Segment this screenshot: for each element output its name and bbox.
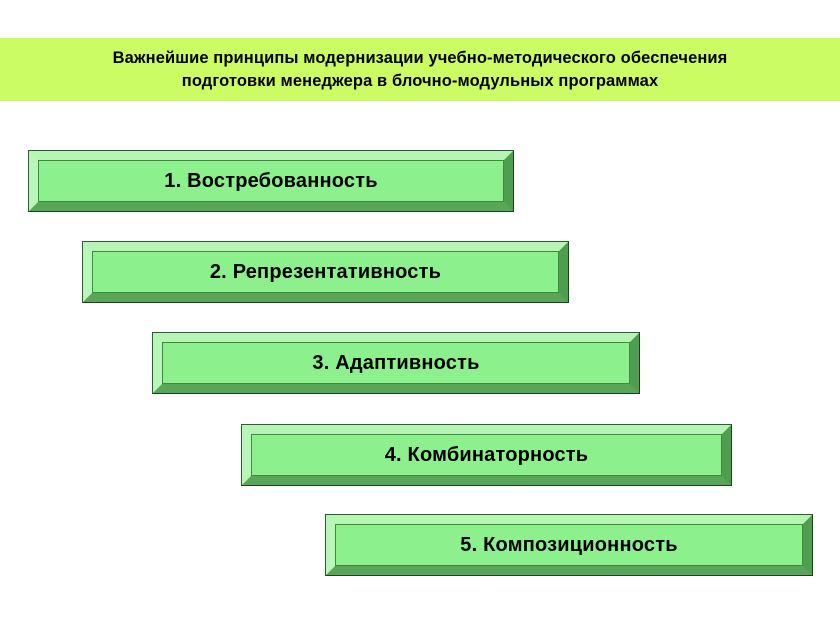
step-box-3-inner: 3. Адаптивность [162, 342, 630, 384]
step-box-5-inner: 5. Композиционность [335, 524, 803, 566]
step-box-4-bevel: 4. Комбинаторность [242, 425, 731, 485]
step-box-3-bevel: 3. Адаптивность [153, 333, 639, 393]
step-box-5[interactable]: 5. Композиционность [325, 514, 813, 576]
step-box-3[interactable]: 3. Адаптивность [152, 332, 640, 394]
step-label-1: 1. Востребованность [164, 171, 377, 191]
step-box-4-inner: 4. Комбинаторность [251, 434, 722, 476]
step-label-4: 4. Комбинаторность [385, 445, 589, 465]
step-box-2-inner: 2. Репрезентативность [92, 251, 559, 293]
principles-staircase: 1. Востребованность 2. Репрезентативност… [0, 0, 840, 630]
step-box-1-bevel: 1. Востребованность [29, 151, 513, 211]
step-box-2-bevel: 2. Репрезентативность [83, 242, 568, 302]
step-label-5: 5. Композиционность [460, 535, 677, 555]
step-box-4[interactable]: 4. Комбинаторность [241, 424, 732, 486]
step-label-2: 2. Репрезентативность [210, 262, 441, 282]
step-box-1-inner: 1. Востребованность [38, 160, 504, 202]
step-box-1[interactable]: 1. Востребованность [28, 150, 514, 212]
step-box-5-bevel: 5. Композиционность [326, 515, 812, 575]
step-label-3: 3. Адаптивность [312, 353, 479, 373]
step-box-2[interactable]: 2. Репрезентативность [82, 241, 569, 303]
